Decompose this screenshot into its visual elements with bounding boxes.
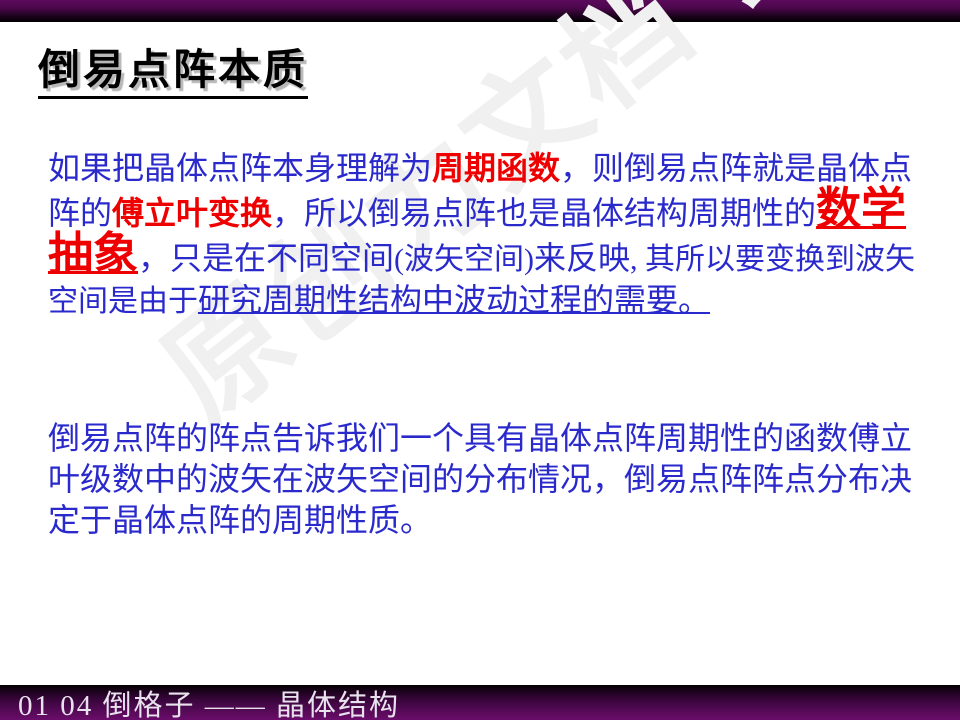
footer-caption: 01 04 倒格子 —— 晶体结构 [18, 692, 400, 720]
body-paragraph-2: 倒易点阵的阵点告诉我们一个具有晶体点阵周期性的函数傅立叶级数中的波矢在波矢空间的… [48, 418, 928, 541]
body-paragraph-1: 如果把晶体点阵本身理解为周期函数，则倒易点阵就是晶体点阵的傅立叶变换，所以倒易点… [48, 148, 928, 322]
para1-segment-5: ，所以倒易点阵也是晶体结构周期性的 [272, 195, 816, 231]
slide-canvas: 原创力文档 会员分享 倒易点阵本质 如果把晶体点阵本身理解为周期函数，则倒易点阵… [0, 0, 960, 720]
top-decoration-bar [0, 0, 960, 22]
para1-highlight-periodic-function: 周期函数 [432, 150, 560, 186]
para1-highlight-fourier-transform: 傅立叶变换 [112, 195, 272, 231]
watermark-text: 原创力文档 会员分享 [142, 22, 798, 657]
page-title: 倒易点阵本质 [38, 48, 308, 99]
para1-segment-8: (波矢空间) [394, 243, 534, 276]
para1-underlined-clause: 研究周期性结构中波动过程的需要。 [198, 282, 710, 318]
para1-segment-9: 来反映 [534, 240, 630, 276]
para1-segment-1: 如果把晶体点阵本身理解为 [48, 150, 432, 186]
para1-segment-7: ，只是在不同空间 [138, 240, 394, 276]
